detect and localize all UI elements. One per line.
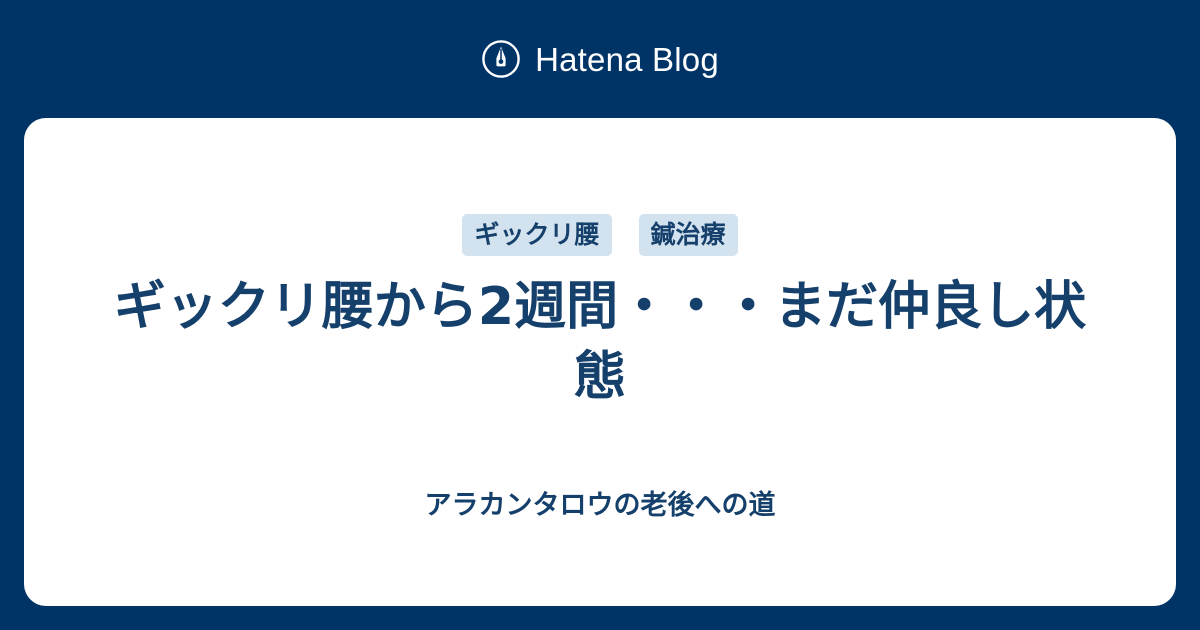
category-tag-list: ギックリ腰 鍼治療 — [462, 215, 737, 255]
brand-name-label: Hatena Blog — [535, 43, 719, 76]
hatena-blog-logo — [481, 39, 521, 79]
category-tag[interactable]: ギックリ腰 — [462, 214, 611, 256]
category-tag[interactable]: 鍼治療 — [639, 214, 738, 256]
og-image-root: Hatena Blog ギックリ腰 鍼治療 ギックリ腰から2週間・・・まだ仲良し… — [0, 0, 1200, 630]
fountain-pen-nib-circle-icon — [481, 39, 521, 79]
entry-card: ギックリ腰 鍼治療 ギックリ腰から2週間・・・まだ仲良し状態 アラカンタロウの老… — [24, 118, 1176, 606]
brand-header: Hatena Blog — [0, 0, 1200, 118]
entry-title: ギックリ腰から2週間・・・まだ仲良し状態 — [24, 272, 1176, 412]
blog-title: アラカンタロウの老後への道 — [425, 492, 776, 519]
